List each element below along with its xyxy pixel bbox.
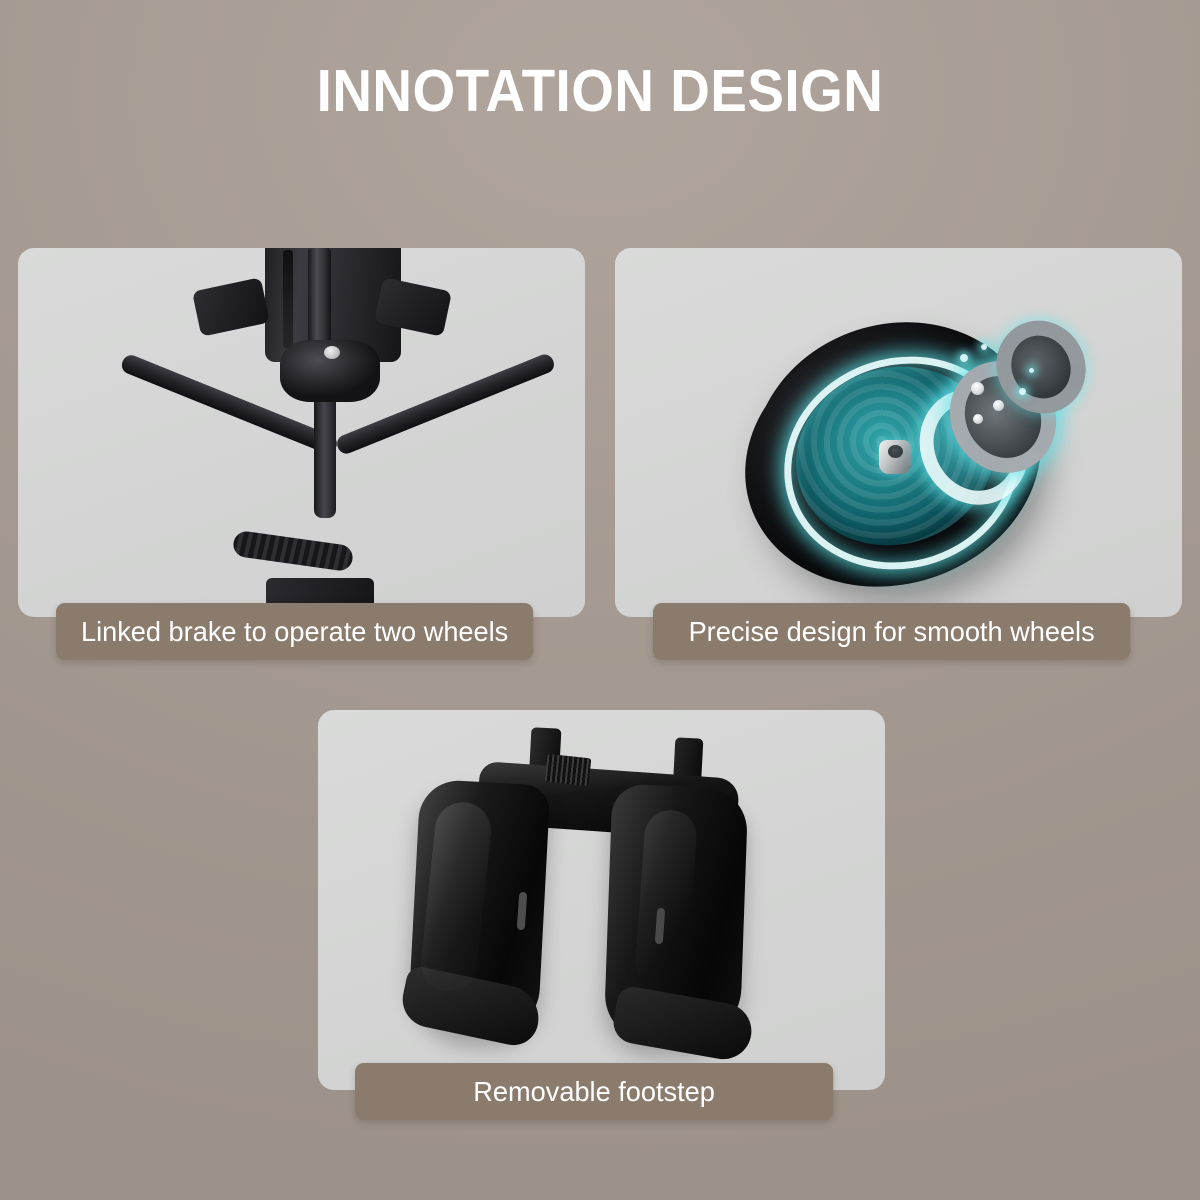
stroller-hub-button — [324, 346, 340, 359]
bearing-ball — [993, 400, 1004, 411]
feature-image-precise-wheels — [615, 248, 1182, 617]
infographic-page: INNOTATION DESIGN — [0, 0, 1200, 1200]
feature-panel-removable-footstep — [318, 710, 885, 1090]
feature-image-linked-brake — [18, 248, 585, 617]
bearing-ball — [971, 382, 984, 395]
feature-panel-precise-wheels — [615, 248, 1182, 617]
glow-spark — [960, 354, 968, 362]
feature-caption-linked-brake: Linked brake to operate two wheels — [56, 603, 533, 660]
feature-caption-precise-wheels: Precise design for smooth wheels — [653, 603, 1130, 660]
feature-caption-removable-footstep: Removable footstep — [355, 1063, 833, 1120]
feature-panel-linked-brake — [18, 248, 585, 617]
feature-image-removable-footstep — [318, 710, 885, 1090]
stroller-clip-left — [192, 277, 270, 337]
glow-spark — [1029, 368, 1034, 373]
linked-brake-bar — [232, 530, 354, 572]
page-title: INNOTATION DESIGN — [42, 56, 1158, 126]
glow-spark — [1019, 388, 1026, 395]
footstep-ribs — [545, 754, 592, 786]
stroller-hub — [280, 340, 380, 402]
bearing-ball — [973, 414, 983, 424]
glow-spark — [981, 344, 987, 350]
wheel-axle — [879, 440, 911, 474]
